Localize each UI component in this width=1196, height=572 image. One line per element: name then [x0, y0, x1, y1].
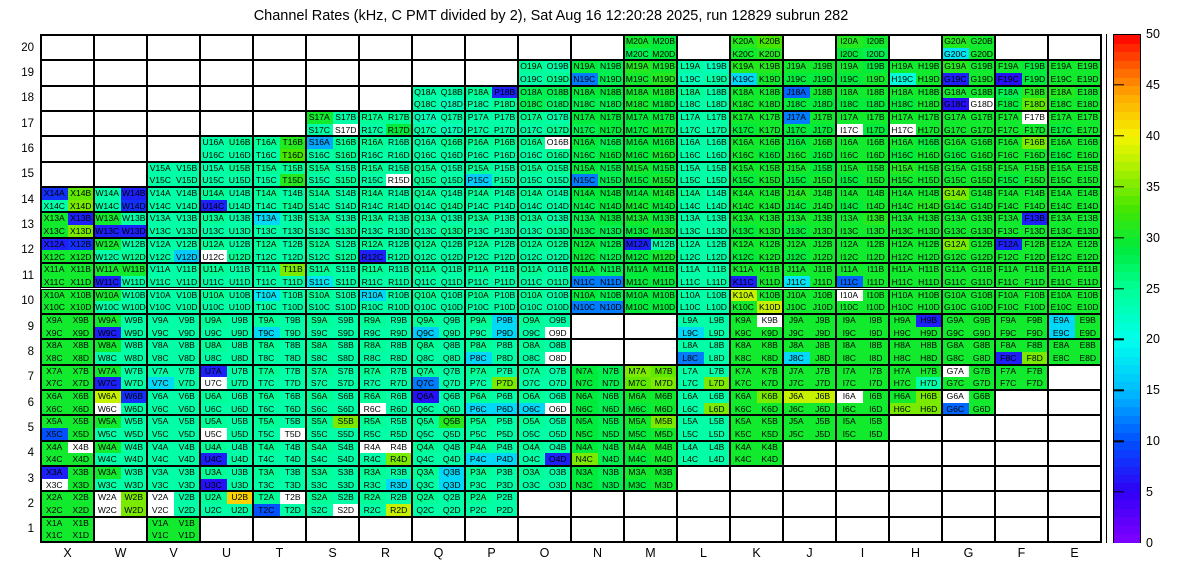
channel-cell: N12D — [598, 250, 625, 263]
channel-cell: T14B — [280, 187, 307, 200]
channel-cell: M14D — [651, 200, 678, 213]
channel-cell: G15D — [969, 174, 996, 187]
colorbar-tick-label: 50 — [1146, 27, 1160, 41]
channel-cell: P17B — [492, 111, 519, 124]
channel-cell: R15A — [359, 162, 386, 175]
channel-cell: O12D — [545, 250, 572, 263]
channel-cell: U13D — [227, 225, 254, 238]
channel-cell: I6C — [836, 403, 863, 416]
channel-cell: G20A — [942, 35, 969, 48]
channel-cell: O14D — [545, 200, 572, 213]
channel-cell: P12C — [465, 250, 492, 263]
channel-cell: J14B — [810, 187, 837, 200]
channel-cell: L17C — [677, 124, 704, 137]
channel-cell: O3B — [545, 466, 572, 479]
channel-cell: S17B — [333, 111, 360, 124]
channel-cell: V1A — [147, 517, 174, 530]
channel-cell: E8B — [1075, 339, 1102, 352]
channel-cell: P5B — [492, 415, 519, 428]
channel-cell: K8B — [757, 339, 784, 352]
channel-cell: K20A — [730, 35, 757, 48]
channel-cell: N14D — [598, 200, 625, 213]
channel-cell: P15B — [492, 162, 519, 175]
channel-cell: V4A — [147, 441, 174, 454]
channel-cell: G12A — [942, 238, 969, 251]
channel-cell: L8B — [704, 339, 731, 352]
channel-cell: G9A — [942, 314, 969, 327]
channel-cell: J7C — [783, 377, 810, 390]
channel-cell: K13D — [757, 225, 784, 238]
channel-cell: U5D — [227, 428, 254, 441]
channel-cell: M16B — [651, 136, 678, 149]
channel-cell: G19B — [969, 60, 996, 73]
channel-cell: F11B — [1022, 263, 1049, 276]
channel-cell: K5D — [757, 428, 784, 441]
channel-cell: H9D — [916, 327, 943, 340]
channel-cell: X1C — [41, 529, 68, 542]
channel-cell: G20B — [969, 35, 996, 48]
channel-cell: G15C — [942, 174, 969, 187]
channel-cell: K13A — [730, 212, 757, 225]
channel-cell: J16C — [783, 149, 810, 162]
grid-cell-outline — [571, 517, 624, 542]
channel-cell: Q15B — [439, 162, 466, 175]
channel-cell: X10A — [41, 289, 68, 302]
channel-cell: N4A — [571, 441, 598, 454]
x-axis-tick: M — [645, 546, 655, 560]
channel-cell: J14C — [783, 200, 810, 213]
channel-cell: P15A — [465, 162, 492, 175]
channel-cell: H17A — [889, 111, 916, 124]
channel-cell: V13C — [147, 225, 174, 238]
channel-cell: I13C — [836, 225, 863, 238]
channel-cell: O10C — [518, 301, 545, 314]
channel-cell: S8C — [306, 352, 333, 365]
channel-cell: S11B — [333, 263, 360, 276]
channel-cell: W14C — [94, 200, 121, 213]
channel-cell: G7C — [942, 377, 969, 390]
channel-cell: R10C — [359, 301, 386, 314]
grid-cell-outline — [995, 390, 1048, 415]
grid-cell-outline — [995, 466, 1048, 491]
channel-cell: U16A — [200, 136, 227, 149]
channel-cell: O13A — [518, 212, 545, 225]
channel-cell: J8B — [810, 339, 837, 352]
channel-cell: M7C — [624, 377, 651, 390]
x-axis-tick: J — [806, 546, 812, 560]
channel-cell: U15D — [227, 174, 254, 187]
channel-cell: G16B — [969, 136, 996, 149]
channel-cell: K17C — [730, 124, 757, 137]
channel-cell: I5D — [863, 428, 890, 441]
grid-cell-outline — [730, 517, 783, 542]
channel-cell: Q2B — [439, 491, 466, 504]
channel-cell: E13D — [1075, 225, 1102, 238]
channel-cell: M19D — [651, 73, 678, 86]
channel-cell: X14D — [68, 200, 95, 213]
channel-cell: L14C — [677, 200, 704, 213]
channel-cell: U14A — [200, 187, 227, 200]
x-axis-tick: R — [381, 546, 390, 560]
channel-cell: V12D — [174, 250, 201, 263]
channel-cell: Q10C — [412, 301, 439, 314]
channel-cell: P2D — [492, 504, 519, 517]
channel-cell: V12C — [147, 250, 174, 263]
channel-cell: L4A — [677, 441, 704, 454]
channel-cell: M4C — [624, 453, 651, 466]
colorbar-tick-label: 25 — [1146, 282, 1160, 296]
channel-cell: G14B — [969, 187, 996, 200]
channel-cell: O5A — [518, 415, 545, 428]
channel-cell: U4D — [227, 453, 254, 466]
channel-cell: L7C — [677, 377, 704, 390]
channel-cell: Q15C — [412, 174, 439, 187]
channel-cell: L19C — [677, 73, 704, 86]
channel-cell: H11B — [916, 263, 943, 276]
channel-cell: Q6D — [439, 403, 466, 416]
channel-cell: X11B — [68, 263, 95, 276]
grid-cell-outline — [571, 339, 624, 364]
grid-cell-outline — [571, 35, 624, 60]
channel-cell: O12A — [518, 238, 545, 251]
colorbar-tick-label: 0 — [1146, 536, 1153, 550]
channel-cell: I11D — [863, 276, 890, 289]
channel-cell: V12B — [174, 238, 201, 251]
grid-cell-outline — [942, 466, 995, 491]
channel-cell: X6D — [68, 403, 95, 416]
channel-cell: R11B — [386, 263, 413, 276]
channel-cell: H9A — [889, 314, 916, 327]
colorbar-axis-line — [1106, 34, 1107, 543]
channel-cell: K10A — [730, 289, 757, 302]
channel-cell: M19A — [624, 60, 651, 73]
channel-cell: O8D — [545, 352, 572, 365]
channel-cell: V5C — [147, 428, 174, 441]
channel-cell: R2D — [386, 504, 413, 517]
channel-cell: S3C — [306, 479, 333, 492]
channel-cell: O13D — [545, 225, 572, 238]
channel-cell: I13A — [836, 212, 863, 225]
channel-cell: M12D — [651, 250, 678, 263]
y-axis-tick: 10 — [8, 295, 34, 307]
channel-cell: P4B — [492, 441, 519, 454]
channel-cell: H6B — [916, 390, 943, 403]
channel-cell: P11A — [465, 263, 492, 276]
grid-cell-outline — [359, 35, 412, 60]
channel-cell: I11B — [863, 263, 890, 276]
channel-cell: I13B — [863, 212, 890, 225]
channel-cell: O14C — [518, 200, 545, 213]
channel-cell: W5A — [94, 415, 121, 428]
channel-cell: S14B — [333, 187, 360, 200]
channel-cell: U16C — [200, 149, 227, 162]
channel-cell: N7C — [571, 377, 598, 390]
channel-cell: W5C — [94, 428, 121, 441]
channel-cell: S4C — [306, 453, 333, 466]
channel-cell: T3C — [253, 479, 280, 492]
channel-cell: K17B — [757, 111, 784, 124]
channel-cell: L15B — [704, 162, 731, 175]
channel-cell: K18D — [757, 98, 784, 111]
colorbar-segment — [1114, 111, 1140, 120]
channel-cell: U10C — [200, 301, 227, 314]
channel-cell: H15D — [916, 174, 943, 187]
channel-cell: F11A — [995, 263, 1022, 276]
channel-cell: E16B — [1075, 136, 1102, 149]
channel-cell: Q15D — [439, 174, 466, 187]
channel-cell: V4C — [147, 453, 174, 466]
channel-cell: O17A — [518, 111, 545, 124]
channel-cell: G12D — [969, 250, 996, 263]
y-axis-tick: 16 — [8, 143, 34, 155]
channel-cell: F17B — [1022, 111, 1049, 124]
channel-cell: M18C — [624, 98, 651, 111]
channel-cell: S8D — [333, 352, 360, 365]
channel-cell: K7A — [730, 365, 757, 378]
channel-cell: X5B — [68, 415, 95, 428]
channel-cell: U11A — [200, 263, 227, 276]
channel-cell: T8D — [280, 352, 307, 365]
channel-cell: I9D — [863, 327, 890, 340]
colorbar-segment — [1114, 415, 1140, 424]
channel-cell: U6D — [227, 403, 254, 416]
grid-cell-outline — [889, 517, 942, 542]
colorbar-tick-label: 15 — [1146, 383, 1160, 397]
colorbar-segment — [1114, 187, 1140, 196]
channel-cell: K8A — [730, 339, 757, 352]
channel-cell: S10D — [333, 301, 360, 314]
channel-cell: W6B — [121, 390, 148, 403]
channel-cell: P10C — [465, 301, 492, 314]
channel-cell: N4B — [598, 441, 625, 454]
channel-cell: M16A — [624, 136, 651, 149]
channel-cell: J12C — [783, 250, 810, 263]
channel-cell: P6D — [492, 403, 519, 416]
channel-cell: N19D — [598, 73, 625, 86]
channel-cell: O7B — [545, 365, 572, 378]
channel-cell: M11B — [651, 263, 678, 276]
channel-cell: W14D — [121, 200, 148, 213]
channel-cell: G18D — [969, 98, 996, 111]
channel-cell: K13C — [730, 225, 757, 238]
channel-cell: G13A — [942, 212, 969, 225]
channel-cell: J10C — [783, 301, 810, 314]
channel-cell: W6C — [94, 403, 121, 416]
channel-cell: L11A — [677, 263, 704, 276]
channel-cell: K6C — [730, 403, 757, 416]
colorbar-tick-label: 10 — [1146, 434, 1160, 448]
channel-cell: J17C — [783, 124, 810, 137]
channel-cell: S5C — [306, 428, 333, 441]
channel-cell: S10C — [306, 301, 333, 314]
channel-cell: G12B — [969, 238, 996, 251]
channel-cell: U6A — [200, 390, 227, 403]
channel-cell: X12A — [41, 238, 68, 251]
channel-cell: P5D — [492, 428, 519, 441]
channel-cell: U2C — [200, 504, 227, 517]
channel-cell: L7D — [704, 377, 731, 390]
channel-cell: Q7D — [439, 377, 466, 390]
channel-cell: P18C — [465, 98, 492, 111]
channel-cell: L18B — [704, 86, 731, 99]
channel-cell: L8A — [677, 339, 704, 352]
channel-cell: I6B — [863, 390, 890, 403]
channel-cell: T15A — [253, 162, 280, 175]
colorbar-segment — [1114, 52, 1140, 61]
channel-cell: J8D — [810, 352, 837, 365]
channel-cell: Q5D — [439, 428, 466, 441]
channel-cell: N5C — [571, 428, 598, 441]
channel-cell: N11B — [598, 263, 625, 276]
channel-cell: R6A — [359, 390, 386, 403]
channel-cell: P3D — [492, 479, 519, 492]
channel-cell: Q5A — [412, 415, 439, 428]
channel-cell: R6B — [386, 390, 413, 403]
channel-cell: Q3C — [412, 479, 439, 492]
channel-cell: T7B — [280, 365, 307, 378]
channel-cell: F7B — [1022, 365, 1049, 378]
colorbar-segment — [1114, 356, 1140, 365]
channel-cell: O12C — [518, 250, 545, 263]
channel-cell: L4D — [704, 453, 731, 466]
channel-cell: O9A — [518, 314, 545, 327]
channel-cell: L12B — [704, 238, 731, 251]
channel-cell: T9C — [253, 327, 280, 340]
channel-cell: L9B — [704, 314, 731, 327]
colorbar-segment — [1114, 466, 1140, 475]
grid-cell-outline — [94, 136, 147, 161]
channel-cell: T5C — [253, 428, 280, 441]
channel-cell: J19A — [783, 60, 810, 73]
channel-cell: L10B — [704, 289, 731, 302]
channel-cell: E12B — [1075, 238, 1102, 251]
channel-cell: F18A — [995, 86, 1022, 99]
channel-cell: L14B — [704, 187, 731, 200]
channel-cell: F12A — [995, 238, 1022, 251]
channel-cell: X3D — [68, 479, 95, 492]
channel-cell: H19D — [916, 73, 943, 86]
grid-cell-outline — [889, 415, 942, 440]
colorbar-segment — [1114, 204, 1140, 213]
channel-cell: M12A — [624, 238, 651, 251]
channel-cell: J11D — [810, 276, 837, 289]
channel-cell: O16D — [545, 149, 572, 162]
channel-cell: U3B — [227, 466, 254, 479]
channel-cell: M17D — [651, 124, 678, 137]
channel-cell: T14D — [280, 200, 307, 213]
channel-cell: V11B — [174, 263, 201, 276]
channel-rate-heatmap[interactable]: M20AM20BM20CM20DK20AK20BK20CK20DI20AI20B… — [40, 34, 1102, 543]
channel-cell: J10D — [810, 301, 837, 314]
channel-cell: F10B — [1022, 289, 1049, 302]
channel-cell: U13B — [227, 212, 254, 225]
channel-cell: X12B — [68, 238, 95, 251]
channel-cell: E19D — [1075, 73, 1102, 86]
channel-cell: P13D — [492, 225, 519, 238]
colorbar-segment — [1114, 170, 1140, 179]
x-axis-tick: T — [276, 546, 284, 560]
channel-cell: W7B — [121, 365, 148, 378]
channel-cell: I19D — [863, 73, 890, 86]
channel-cell: G7D — [969, 377, 996, 390]
channel-cell: T13A — [253, 212, 280, 225]
channel-cell: Q2A — [412, 491, 439, 504]
grid-cell-outline — [147, 86, 200, 111]
channel-cell: V4D — [174, 453, 201, 466]
x-axis-tick: X — [63, 546, 71, 560]
channel-cell: M3C — [624, 479, 651, 492]
channel-cell: L17B — [704, 111, 731, 124]
channel-cell: K11B — [757, 263, 784, 276]
colorbar-tick-label: 35 — [1146, 180, 1160, 194]
channel-cell: L8C — [677, 352, 704, 365]
channel-cell: E8A — [1048, 339, 1075, 352]
channel-cell: V6D — [174, 403, 201, 416]
channel-cell: P11B — [492, 263, 519, 276]
channel-cell: G10A — [942, 289, 969, 302]
channel-cell: R4A — [359, 441, 386, 454]
channel-cell: Q12B — [439, 238, 466, 251]
channel-cell: I7A — [836, 365, 863, 378]
channel-cell: O6B — [545, 390, 572, 403]
channel-cell: M7B — [651, 365, 678, 378]
channel-cell: F19B — [1022, 60, 1049, 73]
channel-cell: V3D — [174, 479, 201, 492]
channel-cell: O15C — [518, 174, 545, 187]
channel-cell: P8D — [492, 352, 519, 365]
channel-cell: P8A — [465, 339, 492, 352]
channel-cell: X11D — [68, 276, 95, 289]
channel-cell: N15D — [598, 174, 625, 187]
channel-cell: P5A — [465, 415, 492, 428]
channel-cell: R10B — [386, 289, 413, 302]
channel-cell: X1A — [41, 517, 68, 530]
channel-cell: G9D — [969, 327, 996, 340]
channel-cell: U7C — [200, 377, 227, 390]
channel-cell: U15C — [200, 174, 227, 187]
y-axis-tick: 9 — [8, 321, 34, 333]
grid-cell-outline — [995, 517, 1048, 542]
channel-cell: J19C — [783, 73, 810, 86]
channel-cell: N18B — [598, 86, 625, 99]
channel-cell: J9A — [783, 314, 810, 327]
channel-cell: W8B — [121, 339, 148, 352]
channel-cell: K19B — [757, 60, 784, 73]
channel-cell: K9A — [730, 314, 757, 327]
colorbar-segment — [1114, 407, 1140, 416]
channel-cell: E17A — [1048, 111, 1075, 124]
channel-cell: L11C — [677, 276, 704, 289]
channel-cell: M16D — [651, 149, 678, 162]
y-axis-tick: 11 — [8, 270, 34, 282]
channel-cell: G10C — [942, 301, 969, 314]
channel-cell: K13B — [757, 212, 784, 225]
channel-cell: Q4C — [412, 453, 439, 466]
channel-cell: Q17D — [439, 124, 466, 137]
channel-cell: R5B — [386, 415, 413, 428]
channel-cell: R9A — [359, 314, 386, 327]
channel-cell: J16A — [783, 136, 810, 149]
channel-cell: N16A — [571, 136, 598, 149]
grid-cell-outline — [995, 415, 1048, 440]
grid-cell-outline — [624, 314, 677, 339]
channel-cell: H17B — [916, 111, 943, 124]
x-axis-tick: V — [169, 546, 177, 560]
channel-cell: L4B — [704, 441, 731, 454]
channel-cell: P14A — [465, 187, 492, 200]
channel-cell: F15B — [1022, 162, 1049, 175]
channel-cell: G16D — [969, 149, 996, 162]
